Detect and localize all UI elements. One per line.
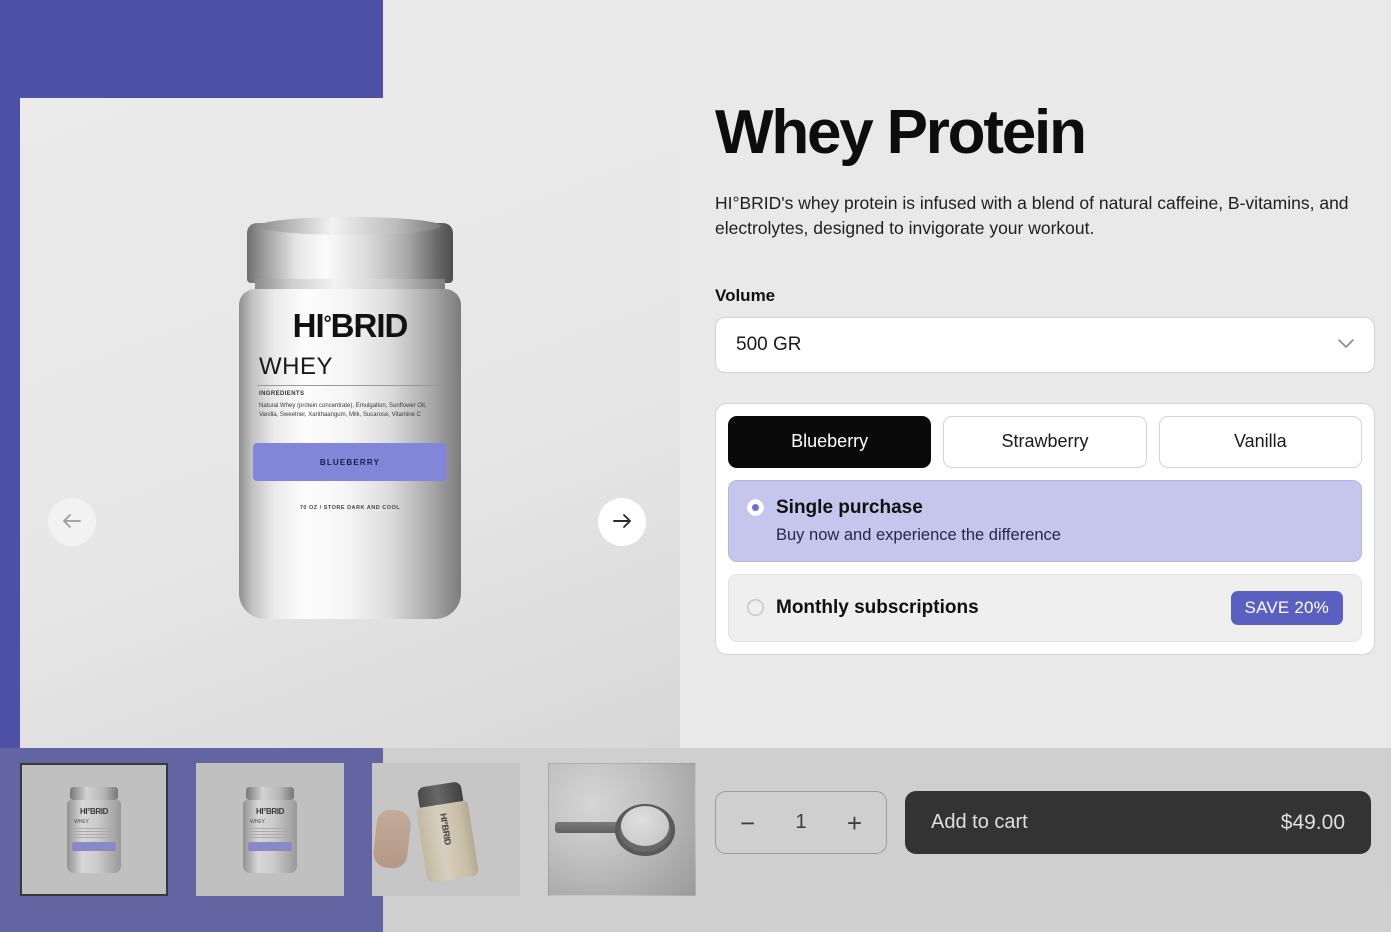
jar-brand-text: HI°BRID bbox=[257, 309, 443, 342]
single-purchase-header: Single purchase bbox=[747, 497, 1343, 519]
gallery-prev-button[interactable] bbox=[48, 498, 96, 546]
thumbnail-whey-jar-front[interactable]: HI°BRID WHEY bbox=[20, 763, 168, 896]
thumb-jar-lid bbox=[70, 787, 118, 800]
volume-selected-value: 500 GR bbox=[736, 334, 801, 356]
jar-flavor-text: BLUEBERRY bbox=[320, 458, 380, 467]
add-to-cart-label: Add to cart bbox=[931, 811, 1028, 834]
volume-label: Volume bbox=[715, 286, 1375, 306]
arrow-left-icon bbox=[61, 512, 83, 533]
jar-label-divider bbox=[257, 385, 443, 386]
add-to-cart-button[interactable]: Add to cart $49.00 bbox=[905, 791, 1371, 854]
thumb-jar-type: WHEY bbox=[250, 819, 265, 825]
arrow-right-icon bbox=[611, 512, 633, 533]
thumb-jar-type: WHEY bbox=[74, 819, 89, 825]
monthly-subscription-title: Monthly subscriptions bbox=[776, 597, 979, 619]
tab-flavor-blueberry[interactable]: Blueberry bbox=[728, 416, 931, 468]
single-purchase-subtitle: Buy now and experience the difference bbox=[776, 526, 1343, 545]
radio-single-purchase[interactable] bbox=[747, 499, 764, 516]
option-single-purchase[interactable]: Single purchase Buy now and experience t… bbox=[728, 480, 1362, 562]
quantity-stepper: − 1 + bbox=[715, 791, 887, 854]
thumb-jar-textlines bbox=[74, 828, 114, 840]
thumbnail-shaker-in-hand[interactable]: HI°BRID bbox=[372, 763, 520, 896]
jar-flavor-band: BLUEBERRY bbox=[253, 443, 447, 481]
quantity-decrease-button[interactable]: − bbox=[736, 810, 759, 836]
radio-monthly-subscription[interactable] bbox=[747, 599, 764, 616]
cart-action-row: − 1 + Add to cart $49.00 bbox=[715, 791, 1371, 854]
flavor-tab-group: Blueberry Strawberry Vanilla bbox=[728, 416, 1362, 468]
thumb-jar-flavor-band bbox=[248, 842, 292, 851]
thumb-jar-label: HI°BRID WHEY bbox=[71, 805, 117, 863]
thumb-jar-graphic: HI°BRID WHEY bbox=[67, 787, 121, 873]
thumb-jar-brand: HI°BRID bbox=[247, 807, 293, 816]
product-details-panel: Whey Protein HI°BRID's whey protein is i… bbox=[715, 100, 1375, 655]
thumb-jar-brand: HI°BRID bbox=[71, 807, 117, 816]
shaker-bottle-graphic: HI°BRID bbox=[413, 781, 479, 884]
thumbnail-powder-scoop[interactable] bbox=[548, 763, 696, 896]
thumbnail-whey-jar-angle[interactable]: HI°BRID WHEY bbox=[196, 763, 344, 896]
thumbnail-strip: HI°BRID WHEY HI°BRID WHEY HI°BRID bbox=[20, 763, 696, 896]
thumb-jar-lid bbox=[246, 787, 294, 800]
page-title: Whey Protein bbox=[715, 100, 1375, 165]
thumb-jar-flavor-band bbox=[72, 842, 116, 851]
quantity-increase-button[interactable]: + bbox=[843, 810, 866, 836]
jar-label: HI°BRID WHEY INGREDIENTS Natural Whey (p… bbox=[251, 301, 449, 601]
volume-select[interactable]: 500 GR bbox=[715, 317, 1375, 373]
jar-ingredients-title: INGREDIENTS bbox=[259, 391, 304, 397]
jar-footer-text: 70 OZ / STORE DARK AND COOL bbox=[251, 505, 449, 511]
product-description: HI°BRID's whey protein is infused with a… bbox=[715, 191, 1365, 242]
jar-ingredients-body: Natural Whey (protein concentrate), Emul… bbox=[259, 402, 439, 421]
tab-flavor-vanilla[interactable]: Vanilla bbox=[1159, 416, 1362, 468]
purchase-options-card: Blueberry Strawberry Vanilla Single purc… bbox=[715, 403, 1375, 655]
tab-flavor-strawberry[interactable]: Strawberry bbox=[943, 416, 1146, 468]
product-jar-image: HI°BRID WHEY INGREDIENTS Natural Whey (p… bbox=[239, 223, 461, 623]
single-purchase-title: Single purchase bbox=[776, 497, 923, 519]
status-badge-save: SAVE 20% bbox=[1231, 591, 1343, 625]
jar-type-text: WHEY bbox=[259, 353, 333, 381]
option-monthly-subscription[interactable]: Monthly subscriptions SAVE 20% bbox=[728, 574, 1362, 642]
hand-graphic bbox=[372, 808, 412, 869]
thumb-jar-label: HI°BRID WHEY bbox=[247, 805, 293, 863]
scoop-powder bbox=[621, 806, 669, 846]
thumb-jar-textlines bbox=[250, 828, 290, 840]
quantity-value: 1 bbox=[795, 811, 806, 834]
jar-lid-top bbox=[259, 217, 441, 235]
gallery-next-button[interactable] bbox=[598, 498, 646, 546]
product-gallery: HI°BRID WHEY INGREDIENTS Natural Whey (p… bbox=[20, 98, 680, 748]
product-price: $49.00 bbox=[1281, 811, 1345, 835]
thumb-jar-graphic: HI°BRID WHEY bbox=[243, 787, 297, 873]
volume-select-wrapper: 500 GR bbox=[715, 317, 1375, 373]
